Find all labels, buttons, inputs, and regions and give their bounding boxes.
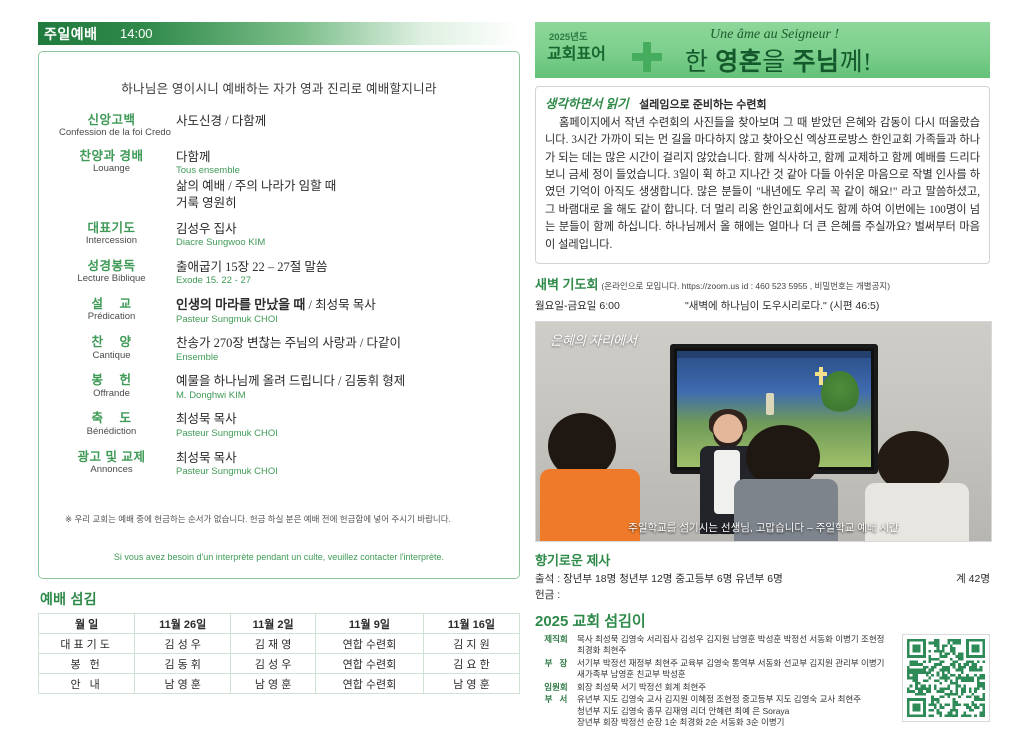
dawn-prayer-detail: 월요일-금요일 6:00"새벽에 하나님이 도우시리로다." (시편 46:5): [535, 298, 990, 313]
servants-line: 회장 최성묵 서기 박정선 회계 최현주: [577, 682, 706, 693]
duty-cell: 김 재 영: [231, 634, 316, 654]
order-item-labels: 찬양과 경배Louange: [59, 149, 164, 212]
servants-section: 제직회목사 최성묵 김영숙 서리집사 김성우 김지원 남영훈 박성훈 박정선 서…: [535, 634, 990, 730]
servants-row: 부 장서기부 박정선 재정부 최현주 교육부 김영숙 통역부 서동화 선교부 김…: [535, 658, 894, 681]
order-item-label-fr: Lecture Biblique: [59, 273, 164, 285]
order-of-service-card: 하나님은 영이시니 예배하는 자가 영과 진리로 예배할지니라 신앙고백Conf…: [38, 51, 520, 579]
duty-row-label: 대표기도: [39, 634, 135, 654]
duty-row-label: 안 내: [39, 674, 135, 694]
order-item-value-ko: 출애굽기 15장 22 – 27절 말씀: [176, 259, 519, 275]
order-item: 성경봉독Lecture Biblique출애굽기 15장 22 – 27절 말씀…: [59, 259, 519, 288]
servants-row-value: 회장 최성묵 서기 박정선 회계 최현주: [577, 682, 706, 693]
article-kicker: 생각하면서 읽기: [545, 97, 629, 111]
order-item-label-fr: Prédication: [59, 311, 164, 323]
order-item: 봉 헌Offrande예물을 하나님께 올려 드립니다 / 김동휘 형제M. D…: [59, 373, 519, 402]
interpreter-note-french: Si vous avez besoin d'un interprète pend…: [39, 552, 519, 562]
order-item-value-fr: Pasteur Sungmuk CHOI: [176, 428, 519, 441]
screen-figure: [766, 393, 774, 415]
order-item-values: 사도신경 / 다함께: [164, 113, 519, 140]
order-item-label-fr: Bénédiction: [59, 426, 164, 438]
servants-row-label: 임원회: [535, 682, 577, 693]
order-item-extra-line: 삶의 예배 / 주의 나라가 임할 때: [176, 178, 519, 195]
offering-title: 향기로운 제사: [535, 550, 990, 569]
offering-amount-row: 헌금 :: [535, 587, 990, 602]
servants-line: 서기부 박정선 재정부 최현주 교육부 김영숙 통역부 서동화 선교부 김지원 …: [577, 658, 885, 669]
order-item-label-ko: 신앙고백: [59, 113, 164, 127]
order-item-value-ko: 최성묵 목사: [176, 450, 519, 466]
dawn-prayer-schedule: 월요일-금요일 6:00: [535, 298, 685, 313]
order-item-label-ko: 찬양과 경배: [59, 149, 164, 163]
order-item-label-ko: 축 도: [59, 411, 164, 425]
order-item-label-fr: Confession de la foi Credo: [59, 127, 164, 139]
article-heading: 생각하면서 읽기 설레임으로 준비하는 수련회: [545, 93, 980, 113]
servants-line: 유년부 지도 김영숙 교사 김지원 이혜정 조현정 중고등부 지도 김영숙 교사…: [577, 694, 861, 705]
duty-table-header-row: 월 일11월 26일11월 2일11월 9일11월 16일: [39, 614, 520, 634]
servants-row-value: 유년부 지도 김영숙 교사 김지원 이혜정 조현정 중고등부 지도 김영숙 교사…: [577, 694, 861, 728]
order-item-label-ko: 성경봉독: [59, 259, 164, 273]
order-item-values: 다함께Tous ensemble삶의 예배 / 주의 나라가 임할 때거룩 영원…: [164, 149, 519, 212]
bulletin-page: 주일예배 14:00 하나님은 영이시니 예배하는 자가 영과 진리로 예배할지…: [0, 0, 1024, 729]
order-item-labels: 성경봉독Lecture Biblique: [59, 259, 164, 288]
order-item-value-fr: Ensemble: [176, 352, 519, 365]
motto-korean: 한 영혼을 주님께!: [685, 42, 872, 78]
order-item: 설 교Prédication인생의 마라를 만났을 때 / 최성묵 목사Past…: [59, 297, 519, 327]
order-item-label-ko: 봉 헌: [59, 373, 164, 387]
order-item-label-fr: Annonces: [59, 464, 164, 476]
order-item-label-ko: 대표기도: [59, 221, 164, 235]
table-row: 대표기도김 성 우김 재 영연합 수련회김 지 원: [39, 634, 520, 654]
order-item: 신앙고백Confession de la foi Credo사도신경 / 다함께: [59, 113, 519, 140]
order-item-value-ko: 김성우 집사: [176, 221, 519, 237]
service-time: 14:00: [120, 26, 153, 41]
dawn-prayer-zoom-info[interactable]: (온라인으로 모입니다. https://zoom.us id : 460 52…: [601, 281, 890, 291]
servants-line: 목사 최성묵 김영숙 서리집사 김성우 김지원 남영훈 박성훈 박정선 서동화 …: [577, 634, 894, 657]
duty-cell: 김 동 휘: [135, 654, 231, 674]
cross-icon: [632, 42, 662, 72]
photo-caption: 주일학교를 섬기시는 선생님, 고맙습니다 – 주일학교 예배 시간: [536, 520, 991, 535]
order-item-label-fr: Offrande: [59, 388, 164, 400]
offering-section: 향기로운 제사 출석 : 장년부 18명 청년부 12명 중고등부 6명 유년부…: [535, 550, 990, 602]
order-item-value-fr: M. Donghwi KIM: [176, 390, 519, 403]
duty-cell: 김 지 원: [423, 634, 519, 654]
order-item-value-fr: Pasteur Sungmuk CHOI: [176, 314, 519, 327]
service-title: 주일예배: [44, 24, 98, 44]
duty-table-title: 예배 섬김: [40, 589, 520, 609]
duty-cell: 남 영 훈: [135, 674, 231, 694]
order-item-labels: 설 교Prédication: [59, 297, 164, 327]
order-item-value-fr: Pasteur Sungmuk CHOI: [176, 466, 519, 479]
order-item-value-ko: 다함께: [176, 149, 519, 165]
duty-table-body: 대표기도김 성 우김 재 영연합 수련회김 지 원봉 헌김 동 휘김 성 우연합…: [39, 634, 520, 694]
order-item-label-ko: 찬 양: [59, 335, 164, 349]
duty-table: 월 일11월 26일11월 2일11월 9일11월 16일 대표기도김 성 우김…: [38, 613, 520, 694]
order-of-service-list: 신앙고백Confession de la foi Credo사도신경 / 다함께…: [39, 113, 519, 479]
order-item-value-fr: Tous ensemble: [176, 165, 519, 178]
order-item-values: 최성묵 목사Pasteur Sungmuk CHOI: [164, 450, 519, 479]
screen-toolbar: [677, 351, 871, 358]
servants-title: 2025 교회 섬김이: [535, 610, 990, 631]
sunday-service-header: 주일예배 14:00: [38, 22, 520, 45]
attendance-total: 계 42명: [956, 571, 990, 586]
servants-row-value: 목사 최성묵 김영숙 서리집사 김성우 김지원 남영훈 박성훈 박정선 서동화 …: [577, 634, 894, 657]
duty-cell: 김 요 한: [423, 654, 519, 674]
servants-line: 새가족부 남영훈 친교부 박성훈: [577, 669, 885, 680]
dawn-prayer-quote: "새벽에 하나님이 도우시리로다." (시편 46:5): [685, 300, 879, 312]
order-item-value-ko: 예물을 하나님께 올려 드립니다 / 김동휘 형제: [176, 373, 519, 389]
qr-code-icon: [907, 639, 985, 717]
duty-column-header: 11월 2일: [231, 614, 316, 634]
order-item-values: 김성우 집사Diacre Sungwoo KIM: [164, 221, 519, 250]
order-item-label-fr: Intercession: [59, 235, 164, 247]
article-title: 설레임으로 준비하는 수련회: [639, 99, 767, 111]
order-item-label-fr: Cantique: [59, 350, 164, 362]
order-item-extra-line: 거룩 영원히: [176, 195, 519, 212]
duty-cell: 김 성 우: [135, 634, 231, 654]
duty-column-header: 11월 26일: [135, 614, 231, 634]
order-item-values: 예물을 하나님께 올려 드립니다 / 김동휘 형제M. Donghwi KIM: [164, 373, 519, 402]
order-item-labels: 광고 및 교제Annonces: [59, 450, 164, 479]
servants-row-label: 부 장: [535, 658, 577, 669]
order-item-label-ko: 광고 및 교제: [59, 450, 164, 464]
duty-cell: 남 영 훈: [231, 674, 316, 694]
order-item-label-fr: Louange: [59, 163, 164, 175]
article-body: 홈페이지에서 작년 수련회의 사진들을 찾아보며 그 때 받았던 은혜와 감동이…: [545, 115, 980, 254]
order-item: 찬양과 경배Louange다함께Tous ensemble삶의 예배 / 주의 …: [59, 149, 519, 212]
order-item-value-ko: 최성묵 목사: [176, 411, 519, 427]
duty-cell: 김 성 우: [231, 654, 316, 674]
duty-column-header: 11월 16일: [423, 614, 519, 634]
servants-row: 제직회목사 최성묵 김영숙 서리집사 김성우 김지원 남영훈 박성훈 박정선 서…: [535, 634, 894, 657]
order-item: 찬 양Cantique찬송가 270장 변찮는 주님의 사랑과 / 다같이Ens…: [59, 335, 519, 364]
qr-code-box[interactable]: [902, 634, 990, 722]
motto-french: Une âme au Seigneur !: [710, 27, 839, 43]
order-item-value-ko: 인생의 마라를 만났을 때 / 최성묵 목사: [176, 297, 519, 314]
photo-overlay-label: 은혜의 자리에서: [550, 330, 637, 349]
order-item-value-ko: 찬송가 270장 변찮는 주님의 사랑과 / 다같이: [176, 335, 519, 351]
servants-line: 청년부 지도 김영숙 총무 김재영 리더 안혜련 최예 은 Soraya: [577, 706, 861, 717]
attendance-row: 출석 : 장년부 18명 청년부 12명 중고등부 6명 유년부 6명 계 42…: [535, 571, 990, 586]
servants-row: 부 서유년부 지도 김영숙 교사 김지원 이혜정 조현정 중고등부 지도 김영숙…: [535, 694, 894, 728]
duty-cell: 남 영 훈: [423, 674, 519, 694]
sunday-school-photo: 은혜의 자리에서 주일학교를 섬기시는 선생님, 고맙습니다 – 주일학교 예배…: [535, 321, 992, 542]
dawn-prayer-section: 새벽 기도회(온라인으로 모입니다. https://zoom.us id : …: [535, 274, 990, 313]
order-item-value-fr: Exode 15. 22 - 27: [176, 275, 519, 288]
servants-row-label: 제직회: [535, 634, 577, 645]
order-item-values: 인생의 마라를 만났을 때 / 최성묵 목사Pasteur Sungmuk CH…: [164, 297, 519, 327]
order-item: 광고 및 교제Annonces최성묵 목사Pasteur Sungmuk CHO…: [59, 450, 519, 479]
screen-cross-icon: [815, 367, 827, 385]
duty-column-header: 월 일: [39, 614, 135, 634]
order-item-labels: 찬 양Cantique: [59, 335, 164, 364]
left-column: 주일예배 14:00 하나님은 영이시니 예배하는 자가 영과 진리로 예배할지…: [38, 22, 520, 694]
servants-row-label: 부 서: [535, 694, 577, 705]
order-item-labels: 대표기도Intercession: [59, 221, 164, 250]
servants-list: 제직회목사 최성묵 김영숙 서리집사 김성우 김지원 남영훈 박성훈 박정선 서…: [535, 634, 894, 730]
duty-cell: 연합 수련회: [315, 634, 423, 654]
order-item-values: 출애굽기 15장 22 – 27절 말씀Exode 15. 22 - 27: [164, 259, 519, 288]
dawn-prayer-title: 새벽 기도회: [535, 277, 598, 292]
duty-cell: 연합 수련회: [315, 654, 423, 674]
motto-label: 교회표어: [547, 40, 606, 64]
feature-article: 생각하면서 읽기 설레임으로 준비하는 수련회 홈페이지에서 작년 수련회의 사…: [535, 86, 990, 264]
order-item-values: 최성묵 목사Pasteur Sungmuk CHOI: [164, 411, 519, 440]
offering-note-korean: ※ 우리 교회는 예배 중에 헌금하는 순서가 없습니다. 헌금 하실 분은 예…: [65, 514, 499, 526]
order-item-labels: 신앙고백Confession de la foi Credo: [59, 113, 164, 140]
table-row: 봉 헌김 동 휘김 성 우연합 수련회김 요 한: [39, 654, 520, 674]
servants-line: 장년부 회장 박정선 순장 1순 최경화 2순 서동화 3순 이병기: [577, 717, 861, 728]
church-motto-banner: 2025년도 교회표어 Une âme au Seigneur ! 한 영혼을 …: [535, 22, 990, 78]
order-item-value-ko: 사도신경 / 다함께: [176, 113, 519, 129]
duty-cell: 연합 수련회: [315, 674, 423, 694]
order-item-value-fr: Diacre Sungwoo KIM: [176, 237, 519, 250]
order-item-labels: 봉 헌Offrande: [59, 373, 164, 402]
order-item-label-ko: 설 교: [59, 297, 164, 311]
table-row: 안 내남 영 훈남 영 훈연합 수련회남 영 훈: [39, 674, 520, 694]
duty-column-header: 11월 9일: [315, 614, 423, 634]
order-item-values: 찬송가 270장 변찮는 주님의 사랑과 / 다같이Ensemble: [164, 335, 519, 364]
servants-row-value: 서기부 박정선 재정부 최현주 교육부 김영숙 통역부 서동화 선교부 김지원 …: [577, 658, 885, 681]
order-item: 대표기도Intercession김성우 집사Diacre Sungwoo KIM: [59, 221, 519, 250]
attendance-detail: 출석 : 장년부 18명 청년부 12명 중고등부 6명 유년부 6명: [535, 571, 783, 586]
right-column: 2025년도 교회표어 Une âme au Seigneur ! 한 영혼을 …: [535, 22, 990, 730]
order-item-labels: 축 도Bénédiction: [59, 411, 164, 440]
duty-row-label: 봉 헌: [39, 654, 135, 674]
order-item: 축 도Bénédiction최성묵 목사Pasteur Sungmuk CHOI: [59, 411, 519, 440]
opening-verse: 하나님은 영이시니 예배하는 자가 영과 진리로 예배할지니라: [39, 52, 519, 97]
servants-row: 임원회회장 최성묵 서기 박정선 회계 최현주: [535, 682, 894, 693]
